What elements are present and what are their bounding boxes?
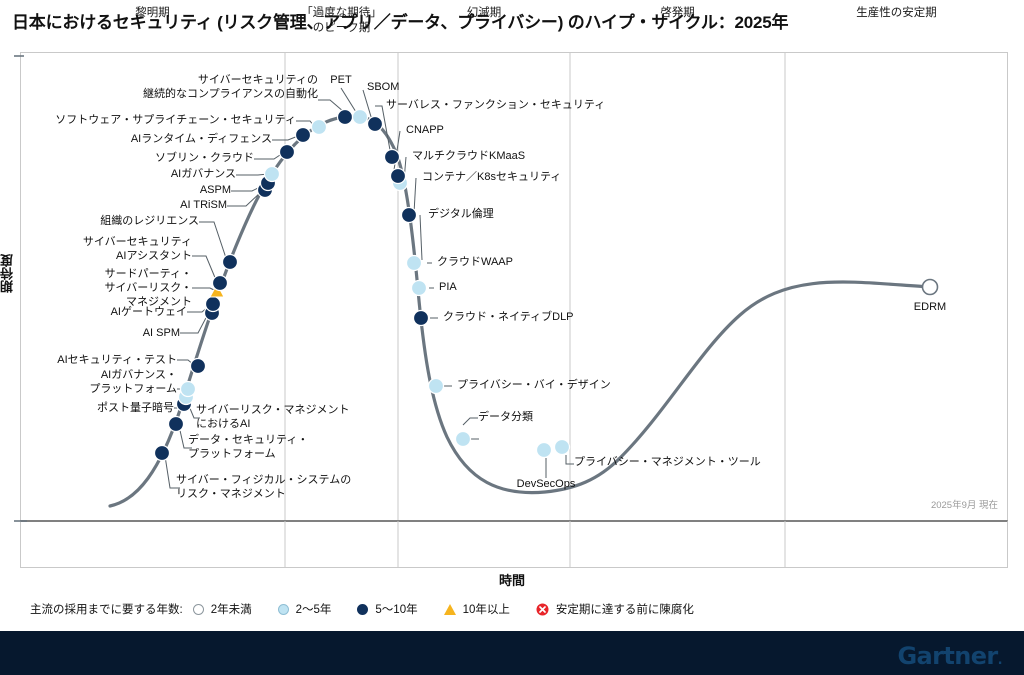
legend-title: 主流の採用までに要する年数: <box>30 601 183 617</box>
phase-text: 黎明期 <box>20 6 285 21</box>
label-cybersecurity-ai-assistant-line2: AIアシスタント <box>0 250 192 264</box>
as-of-date: 2025年9月 現在 <box>931 497 998 511</box>
label-pet: PET <box>317 74 365 88</box>
label-digital-ethics: デジタル倫理 <box>428 208 494 222</box>
label-aspm: ASPM <box>0 184 231 198</box>
label-data-security-platform-line1: データ・セキュリティ・ <box>188 434 308 448</box>
label-ai-trism: AI TRiSM <box>0 199 227 213</box>
label-cloud-native-dlp: クラウド・ネイティブDLP <box>443 311 574 325</box>
label-cps-risk-mgmt-line2: リスク・マネジメント <box>176 488 286 502</box>
label-multicloud-kmaas: マルチクラウドKMaaS <box>412 150 525 164</box>
label-ai-governance: AIガバナンス <box>0 168 236 182</box>
label-sbom: SBOM <box>367 81 399 95</box>
gartner-logo: Gartner. <box>897 642 1002 670</box>
label-ai-in-cyber-risk-mgmt-line1: サイバーリスク・マネジメント <box>196 404 350 418</box>
phase-text-line1: 「過度な期待」 <box>285 6 398 21</box>
phase-text-line2: のピーク期 <box>285 21 398 36</box>
label-cloud-waap: クラウドWAAP <box>437 256 513 270</box>
label-ai-governance-platform-line1: AIガバナンス・ <box>0 369 177 383</box>
label-sovereign-cloud: ソブリン・クラウド <box>0 152 254 166</box>
legend-label: 2年未満 <box>211 601 252 617</box>
phase-text: 生産性の安定期 <box>785 6 1008 21</box>
label-data-classification: データ分類 <box>478 411 533 425</box>
label-organizational-resilience: 組織のレジリエンス <box>0 215 199 229</box>
circle-open-icon <box>193 604 204 615</box>
label-ai-security-testing: AIセキュリティ・テスト <box>0 354 177 368</box>
phase-text: 幻滅期 <box>398 6 570 21</box>
label-cybersecurity-ai-assistant-line1: サイバーセキュリティ <box>0 236 192 250</box>
label-serverless-function-security: サーバレス・ファンクション・セキュリティ <box>386 99 605 113</box>
legend-label: 10年以上 <box>463 601 510 617</box>
label-cps-risk-mgmt-line1: サイバー・フィジカル・システムの <box>176 474 351 488</box>
legend-item-less-than-2-years: 2年未満 <box>193 601 252 617</box>
footer-bar <box>0 631 1024 675</box>
phase-label-slope: 啓発期 <box>570 6 785 21</box>
label-ai-gateway: AIゲートウェイ <box>0 306 187 320</box>
label-third-party-cyber-risk-line1: サードパーティ・ <box>0 268 192 282</box>
label-software-supply-chain-security: ソフトウェア・サプライチェーン・セキュリティ <box>0 114 296 128</box>
legend-label: 2〜5年 <box>296 601 332 617</box>
label-container-k8s-security: コンテナ／K8sセキュリティ <box>422 171 561 185</box>
legend: 主流の採用までに要する年数: 2年未満 2〜5年 5〜10年 10年以上 安定期… <box>30 598 720 620</box>
label-pia: PIA <box>439 281 457 295</box>
gartner-wordmark: Gartner <box>897 642 997 670</box>
legend-label: 5〜10年 <box>375 601 417 617</box>
legend-item-2-to-5-years: 2〜5年 <box>278 601 332 617</box>
gartner-registered-dot: . <box>998 653 1002 668</box>
label-privacy-management-tools: プライバシー・マネジメント・ツール <box>574 456 761 470</box>
label-cnapp: CNAPP <box>406 124 444 138</box>
label-post-quantum-cryptography: ポスト量子暗号 <box>0 402 174 416</box>
x-axis-label: 時間 <box>0 570 1024 589</box>
label-cyber-compliance-line2: 継続的なコンプライアンスの自動化 <box>0 88 318 102</box>
legend-item-obsolete-before-plateau: 安定期に達する前に陳腐化 <box>536 601 694 617</box>
legend-label: 安定期に達する前に陳腐化 <box>556 601 694 617</box>
phase-label-innovation-trigger: 黎明期 <box>20 6 285 21</box>
circle-x-red-icon <box>536 603 549 616</box>
legend-item-5-to-10-years: 5〜10年 <box>357 601 417 617</box>
label-third-party-cyber-risk-line2: サイバーリスク・ <box>0 282 192 296</box>
label-edrm: EDRM <box>898 301 962 315</box>
label-ai-in-cyber-risk-mgmt-line2: におけるAI <box>196 418 250 432</box>
phase-label-plateau: 生産性の安定期 <box>785 6 1008 21</box>
label-cyber-compliance-line1: サイバーセキュリティの <box>0 74 318 88</box>
triangle-amber-icon <box>444 604 456 615</box>
label-data-security-platform-line2: プラットフォーム <box>188 448 276 462</box>
legend-item-more-than-10-years: 10年以上 <box>444 601 510 617</box>
phase-band <box>20 520 1008 568</box>
phase-label-trough: 幻滅期 <box>398 6 570 21</box>
circle-dark-icon <box>357 604 368 615</box>
phase-text: 啓発期 <box>570 6 785 21</box>
label-devsecops: DevSecOps <box>506 478 586 492</box>
label-privacy-by-design: プライバシー・バイ・デザイン <box>457 379 611 393</box>
label-ai-runtime-defense: AIランタイム・ディフェンス <box>0 133 272 147</box>
label-ai-governance-platform-line2: プラットフォーム <box>0 383 177 397</box>
label-ai-spm: AI SPM <box>0 327 180 341</box>
phase-label-peak: 「過度な期待」 のピーク期 <box>285 6 398 36</box>
circle-light-icon <box>278 604 289 615</box>
